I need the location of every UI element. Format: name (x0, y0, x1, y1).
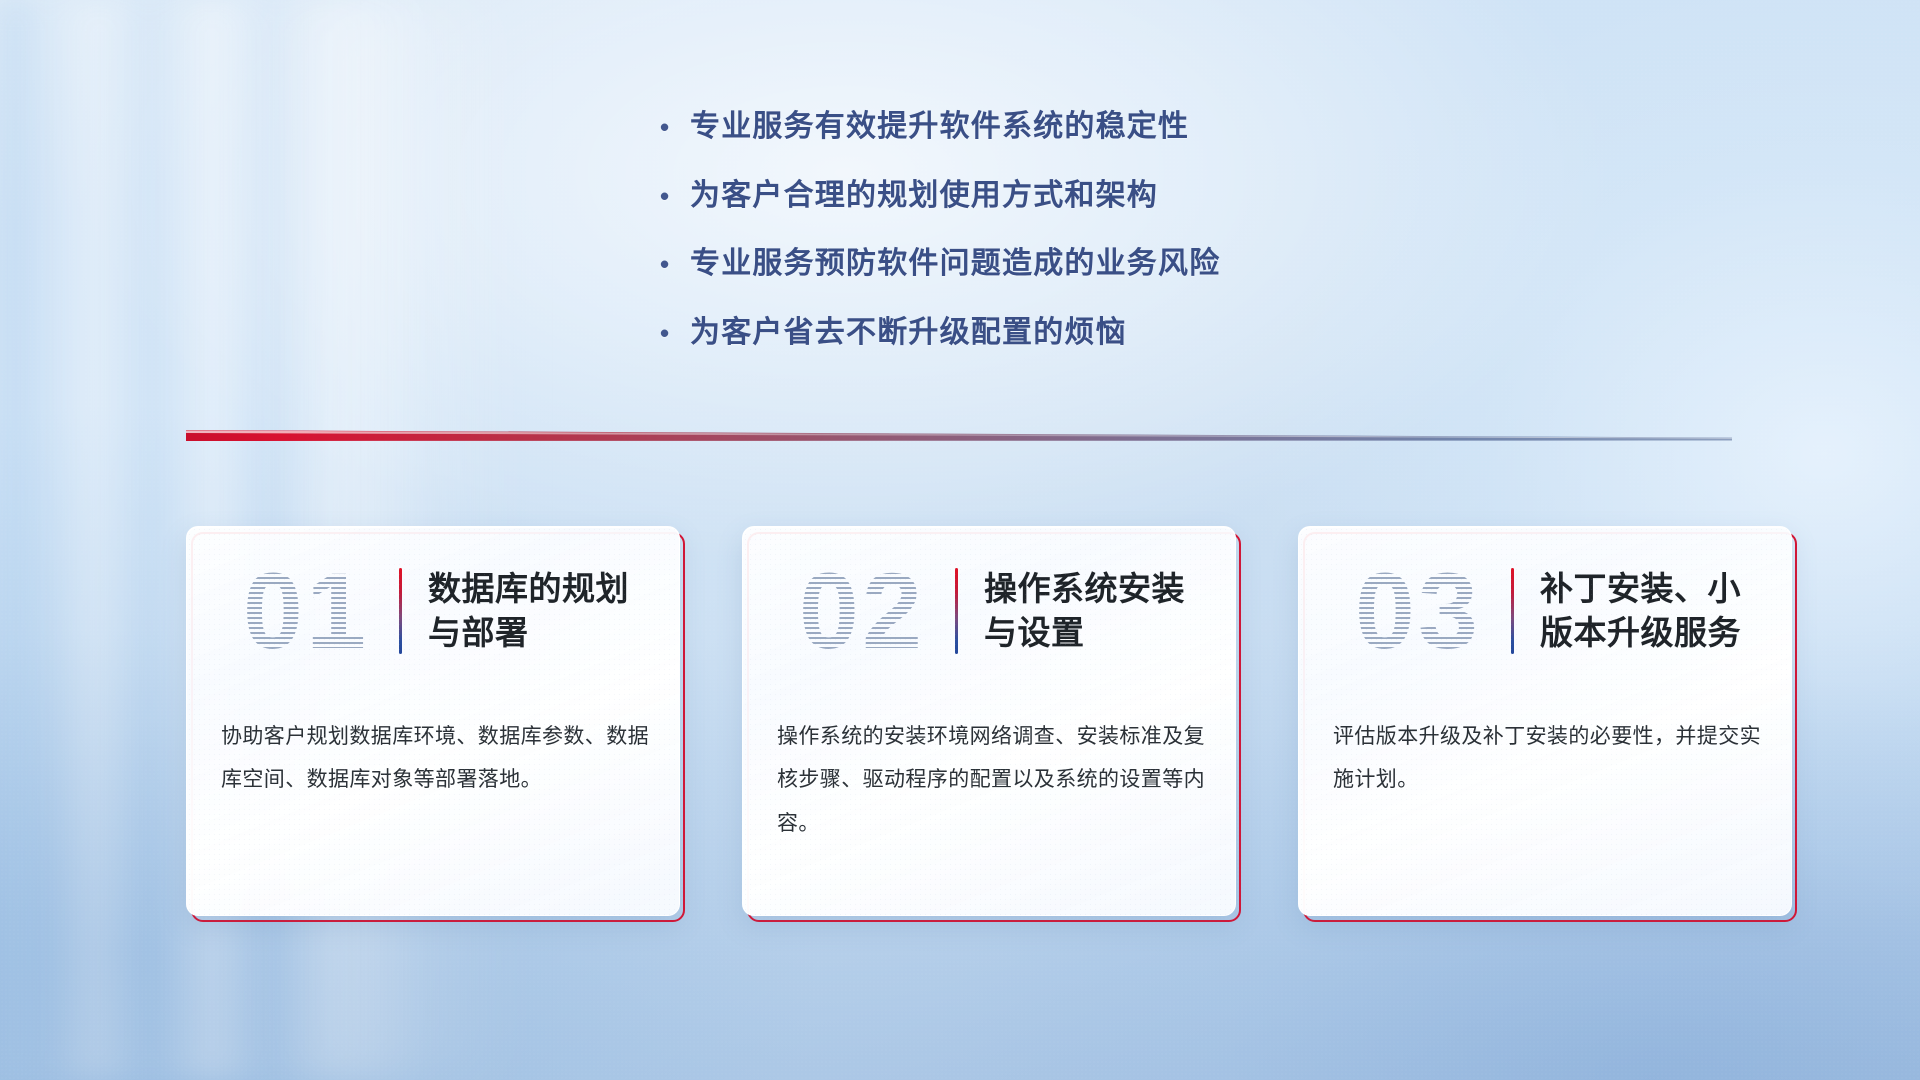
card-title-separator-bar (1511, 568, 1514, 654)
bullet-item-text: 为客户合理的规划使用方式和架构 (690, 177, 1420, 215)
bullet-dot-icon: • (660, 251, 690, 277)
card-surface: 02 操作系统安装与设置 操作系统的安装环境网络调查、安装标准及复核步骤、驱动程… (742, 526, 1236, 916)
card-description: 操作系统的安装环境网络调查、安装标准及复核步骤、驱动程序的配置以及系统的设置等内… (777, 715, 1209, 845)
card-description: 评估版本升级及补丁安装的必要性，并提交实施计划。 (1333, 715, 1765, 802)
card-title: 操作系统安装与设置 (984, 567, 1217, 655)
bullet-item: • 为客户合理的规划使用方式和架构 (660, 177, 1420, 215)
benefits-bullet-list: • 专业服务有效提升软件系统的稳定性 • 为客户合理的规划使用方式和架构 • 专… (660, 108, 1420, 382)
divider-wedge-shape (186, 428, 1732, 448)
card-title-separator-bar (955, 568, 958, 654)
service-cards-row: 01 数据库的规划与部署 协助客户规划数据库环境、数据库参数、数据库空间、数据库… (0, 518, 1920, 928)
bullet-dot-icon: • (660, 114, 690, 140)
card-surface: 03 补丁安装、小版本升级服务 评估版本升级及补丁安装的必要性，并提交实施计划。 (1298, 526, 1792, 916)
card-number-watermark: 02 (769, 552, 955, 670)
bullet-item: • 为客户省去不断升级配置的烦恼 (660, 314, 1420, 352)
card-title-separator-bar (399, 568, 402, 654)
bullet-item-text: 专业服务预防软件问题造成的业务风险 (690, 245, 1420, 283)
card-title: 补丁安装、小版本升级服务 (1540, 567, 1773, 655)
bullet-dot-icon: • (660, 320, 690, 346)
bullet-dot-icon: • (660, 183, 690, 209)
section-divider (186, 428, 1732, 448)
card-number-text: 03 (1325, 552, 1511, 670)
card-number-watermark: 01 (213, 552, 399, 670)
card-description: 协助客户规划数据库环境、数据库参数、数据库空间、数据库对象等部署落地。 (221, 715, 653, 802)
card-header: 02 操作系统安装与设置 (743, 541, 1235, 681)
card-header: 01 数据库的规划与部署 (187, 541, 679, 681)
card-title: 数据库的规划与部署 (428, 567, 661, 655)
card-number-watermark: 03 (1325, 552, 1511, 670)
service-card[interactable]: 01 数据库的规划与部署 协助客户规划数据库环境、数据库参数、数据库空间、数据库… (186, 526, 680, 916)
card-number-text: 02 (769, 552, 955, 670)
service-card[interactable]: 03 补丁安装、小版本升级服务 评估版本升级及补丁安装的必要性，并提交实施计划。 (1298, 526, 1792, 916)
bullet-item-text: 为客户省去不断升级配置的烦恼 (690, 314, 1420, 352)
bullet-item-text: 专业服务有效提升软件系统的稳定性 (690, 108, 1420, 146)
service-card[interactable]: 02 操作系统安装与设置 操作系统的安装环境网络调查、安装标准及复核步骤、驱动程… (742, 526, 1236, 916)
card-surface: 01 数据库的规划与部署 协助客户规划数据库环境、数据库参数、数据库空间、数据库… (186, 526, 680, 916)
bullet-item: • 专业服务有效提升软件系统的稳定性 (660, 108, 1420, 146)
card-header: 03 补丁安装、小版本升级服务 (1299, 541, 1791, 681)
card-number-text: 01 (213, 552, 399, 670)
bullet-item: • 专业服务预防软件问题造成的业务风险 (660, 245, 1420, 283)
